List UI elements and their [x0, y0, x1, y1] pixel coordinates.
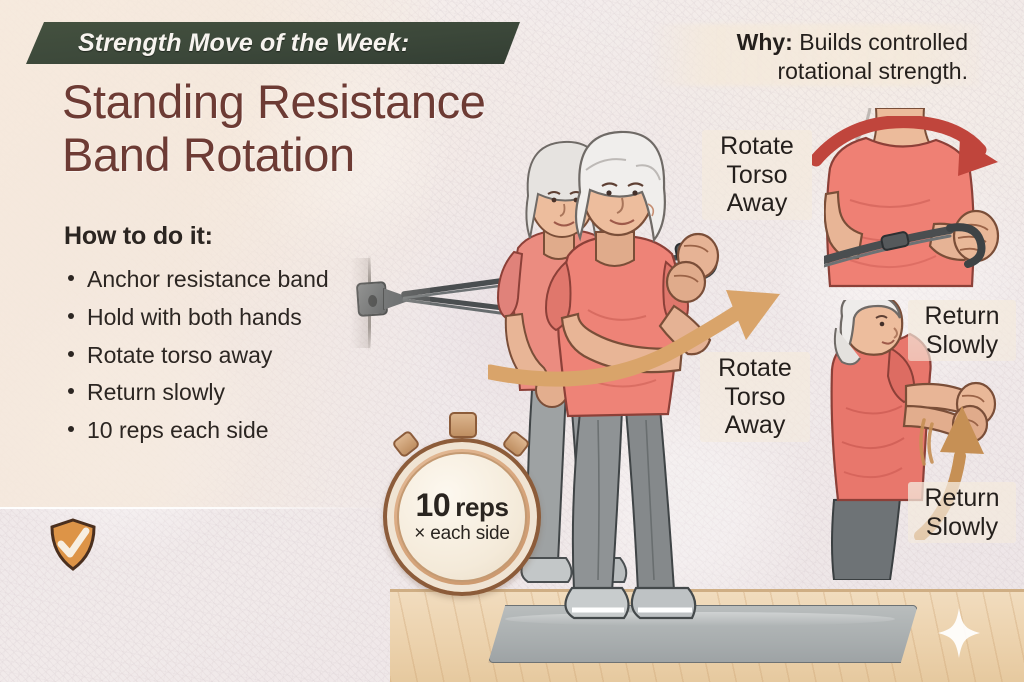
stopwatch-crown [449, 412, 477, 438]
why-label: Why: [737, 29, 793, 55]
callout-return-slowly-top: Return Slowly [908, 300, 1016, 361]
callout-rotate-torso-away-mid: Rotate Torso Away [700, 352, 810, 442]
why-text: Builds controlled rotational strength. [777, 29, 968, 84]
callout-return-slowly-bottom: Return Slowly [908, 482, 1016, 543]
title-line-1: Standing Resistance [62, 76, 662, 129]
page-title: Standing Resistance Band Rotation [62, 76, 662, 181]
banner-label: Strength Move of the Week: [78, 29, 409, 58]
bullet-icon [68, 426, 74, 432]
howto-step-text: Return slowly [87, 379, 225, 405]
howto-step-text: Anchor resistance band [87, 266, 329, 292]
bullet-icon [68, 388, 74, 394]
list-item: Hold with both hands [66, 302, 396, 333]
panel-divider [0, 507, 378, 509]
callout-rotate-torso-away-top: Rotate Torso Away [702, 130, 812, 220]
bullet-icon [68, 313, 74, 319]
list-item: 10 reps each side [66, 415, 396, 446]
howto-heading: How to do it: [64, 222, 213, 251]
infographic-poster: Strength Move of the Week: Standing Resi… [0, 0, 1024, 682]
howto-step-text: 10 reps each side [87, 417, 269, 443]
banner-strip: Strength Move of the Week: [26, 22, 520, 64]
stopwatch-sub-label: × each side [414, 523, 510, 545]
howto-step-list: Anchor resistance band Hold with both ha… [66, 264, 396, 453]
why-block: Why: Builds controlled rotational streng… [658, 28, 968, 86]
stopwatch-face: 10reps × each side [397, 452, 527, 582]
bullet-icon [68, 275, 74, 281]
howto-step-text: Hold with both hands [87, 304, 302, 330]
howto-step-text: Rotate torso away [87, 342, 272, 368]
stopwatch-reps-number: 10 [415, 487, 450, 523]
title-line-2: Band Rotation [62, 129, 662, 182]
stopwatch-graphic: 10reps × each side [377, 412, 547, 582]
list-item: Rotate torso away [66, 340, 396, 371]
shield-check-icon [49, 518, 97, 572]
stopwatch-reps-line: 10reps [415, 489, 508, 521]
list-item: Anchor resistance band [66, 264, 396, 295]
stopwatch-reps-word: reps [455, 492, 508, 522]
list-item: Return slowly [66, 377, 396, 408]
bullet-icon [68, 351, 74, 357]
